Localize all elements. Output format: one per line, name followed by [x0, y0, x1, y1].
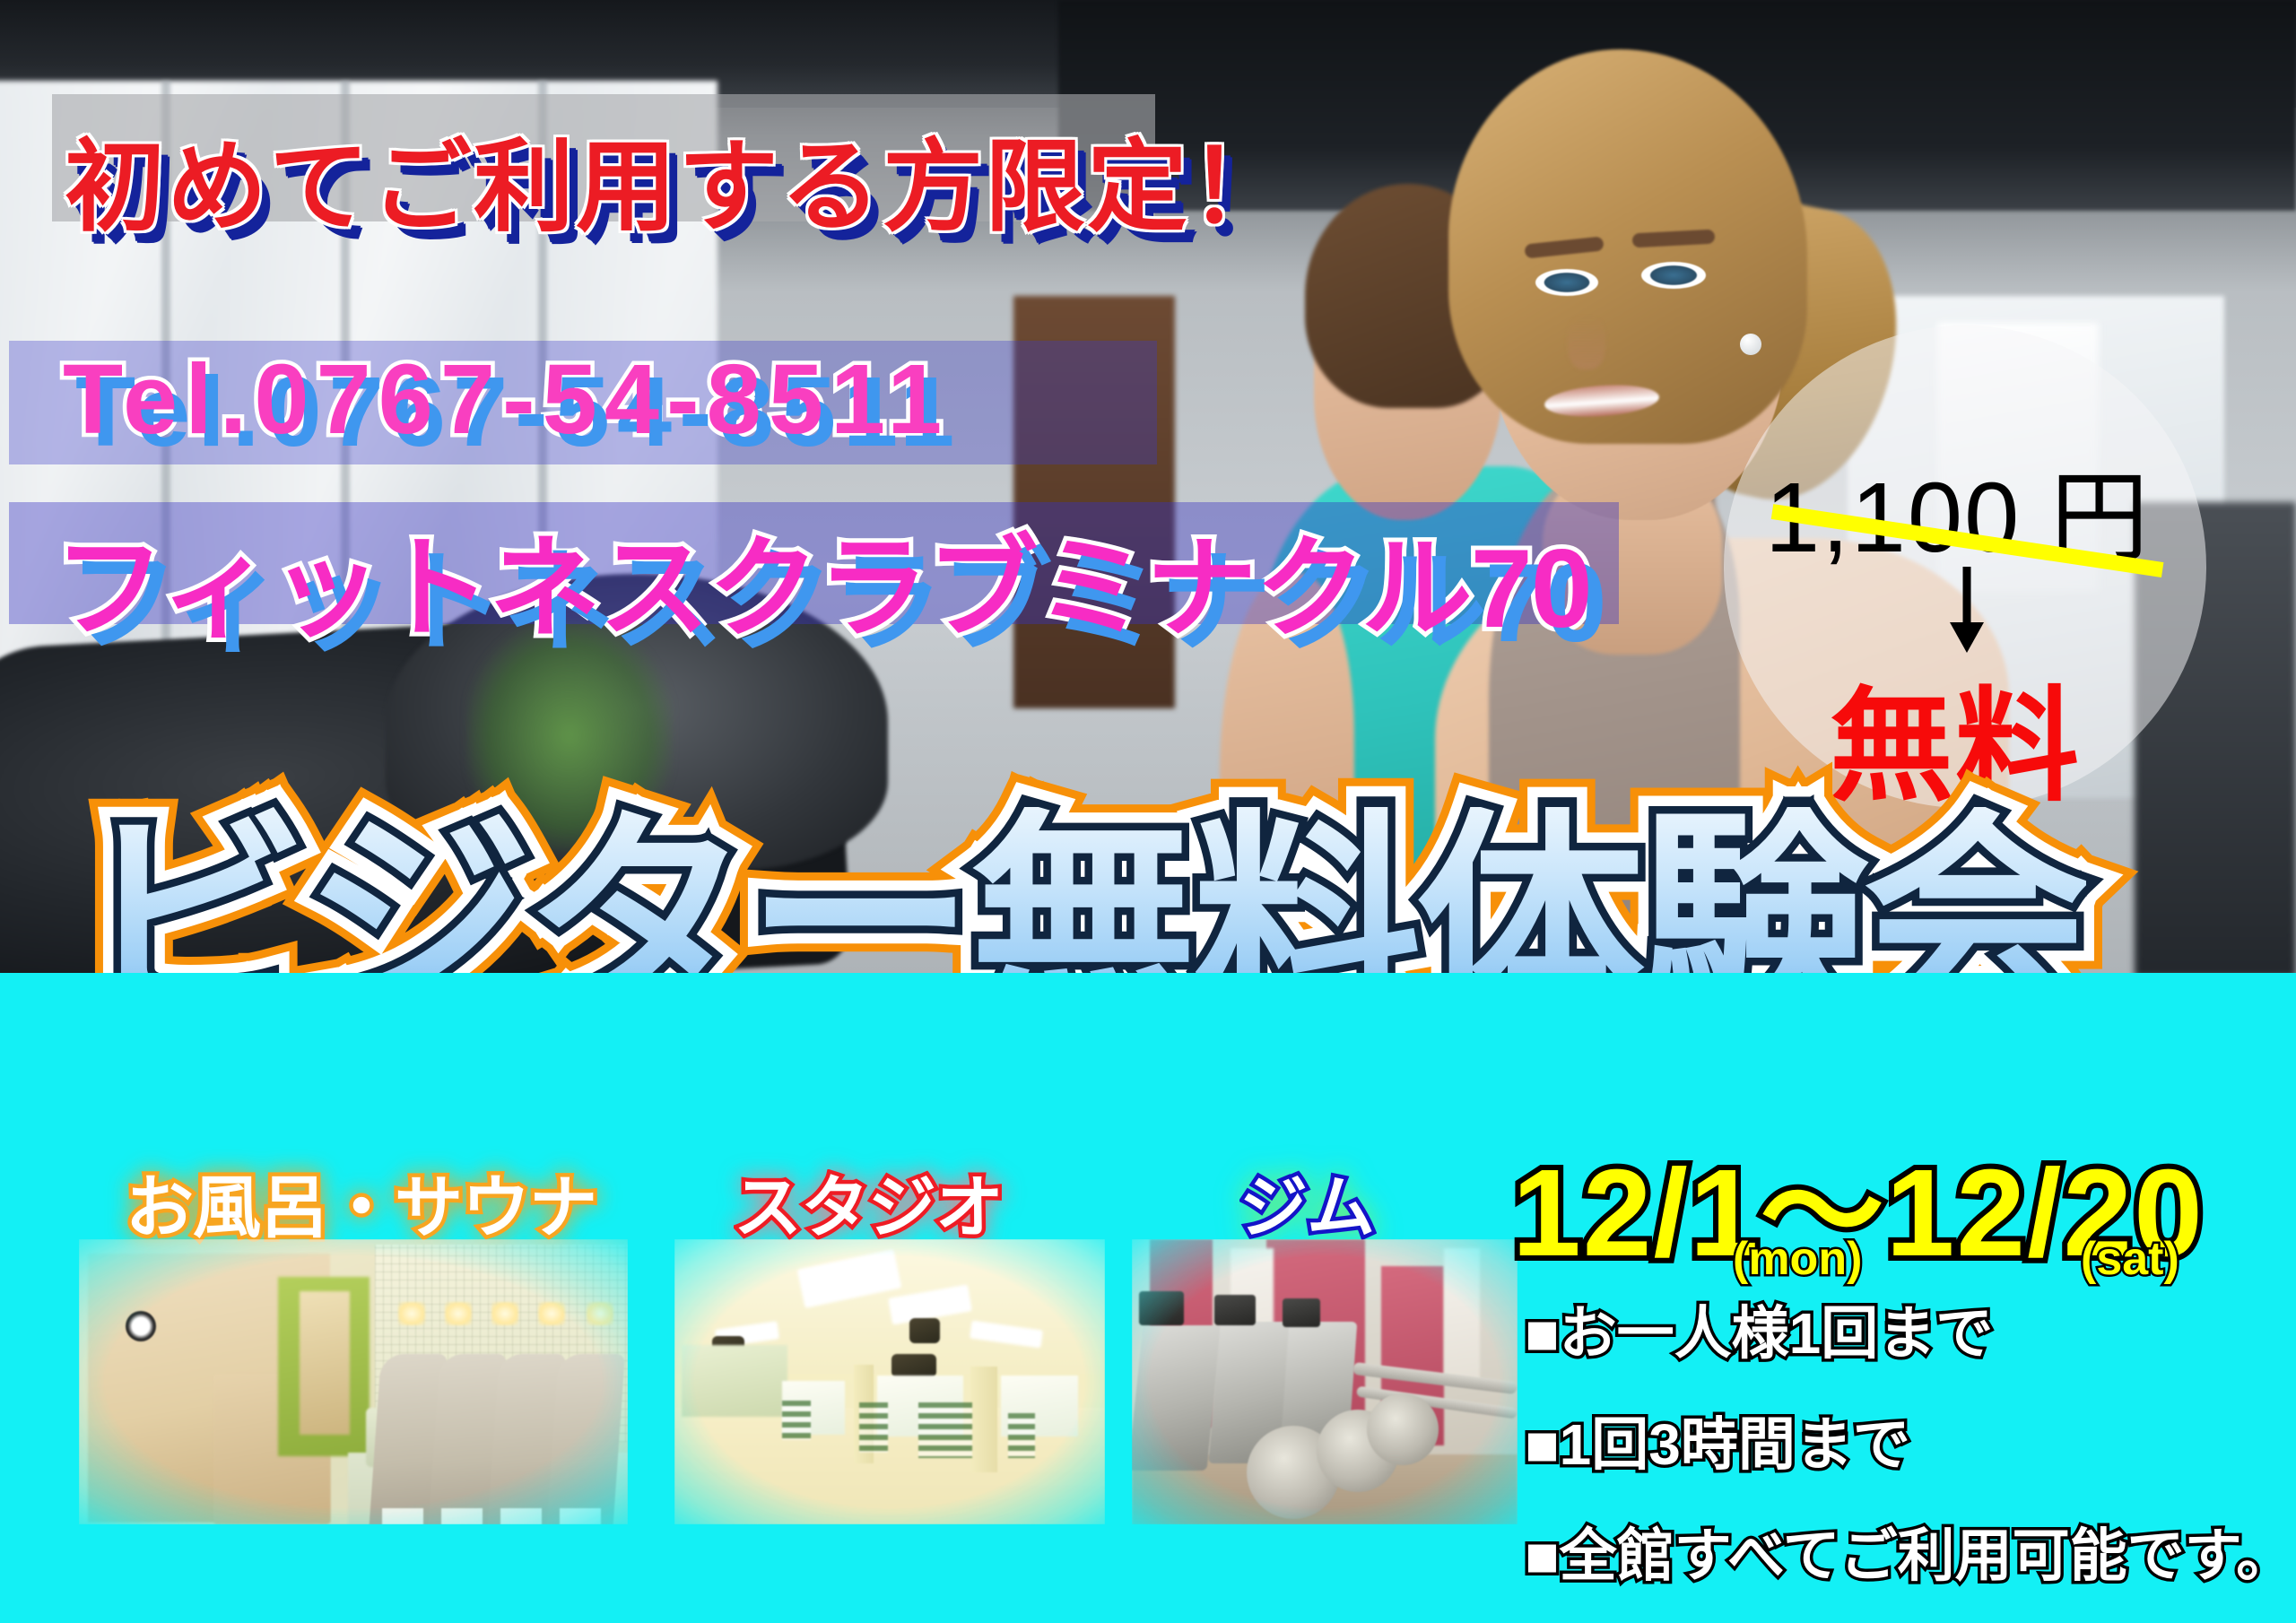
campaign-end-day: (sat) — [2081, 1232, 2179, 1286]
woman-eye-right — [1641, 262, 1706, 289]
telephone-number[interactable]: Tel.0767-54-8511 — [63, 343, 949, 456]
campaign-start-day: (mon) — [1733, 1232, 1862, 1286]
gym-photo — [1132, 1239, 1518, 1524]
facility-label-gym: ジム — [1239, 1152, 1374, 1251]
woman-earring — [1740, 334, 1761, 355]
condition-item: ■全館すべてご利用可能です。 — [1525, 1510, 2293, 1593]
poster-root: 初めてご利用する方限定！ Tel.0767-54-8511 フィットネスクラブミ… — [0, 0, 2296, 1623]
condition-item: ■お一人様1回まで — [1525, 1288, 1993, 1370]
club-name: フィットネスクラブミナクル70 — [54, 498, 1591, 659]
studio-photo — [674, 1239, 1105, 1524]
down-arrow-icon — [1943, 567, 1991, 653]
facility-label-studio: スタジオ — [734, 1152, 1003, 1251]
woman-nose — [1568, 316, 1605, 369]
eligibility-note: 初めてご利用する方限定！ — [65, 106, 1291, 251]
woman-eye-left — [1535, 269, 1598, 296]
facility-label-bath: お風呂・サウナ — [126, 1152, 596, 1251]
bath-sauna-photo — [79, 1239, 628, 1524]
condition-item: ■1回3時間まで — [1525, 1399, 1910, 1481]
